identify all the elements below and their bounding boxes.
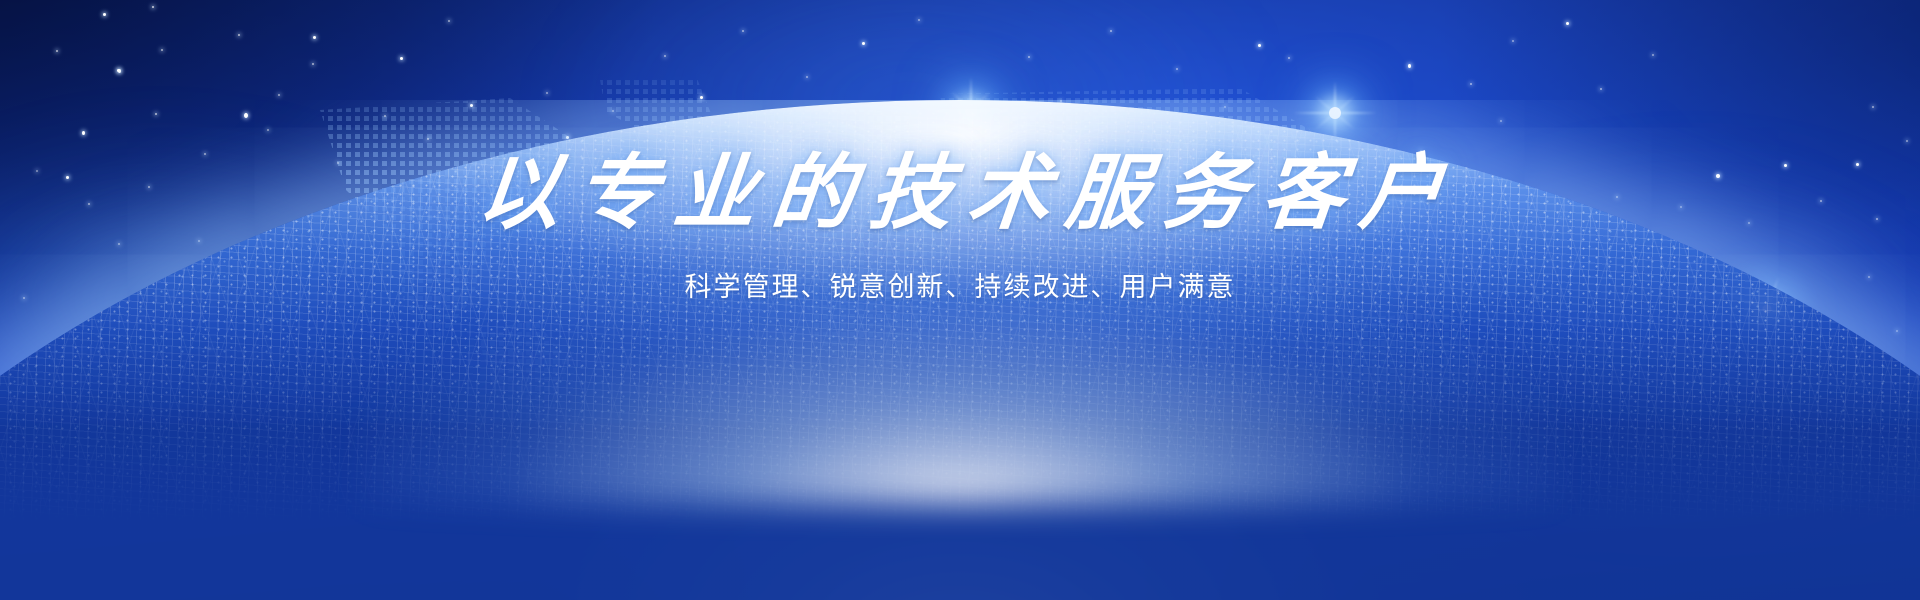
- banner-headline: 以专业的技术服务客户: [0, 150, 1920, 239]
- banner-subline: 科学管理、锐意创新、持续改进、用户满意: [0, 265, 1920, 304]
- hero-banner: 以专业的技术服务客户 科学管理、锐意创新、持续改进、用户满意: [0, 0, 1920, 600]
- banner-copy: 以专业的技术服务客户 科学管理、锐意创新、持续改进、用户满意: [0, 150, 1920, 304]
